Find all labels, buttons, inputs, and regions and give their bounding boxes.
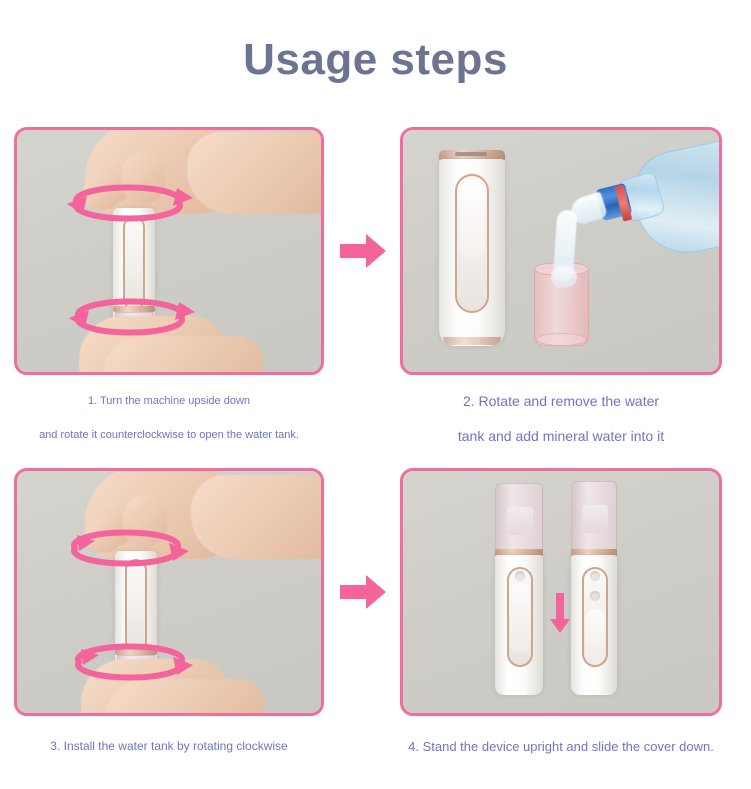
rotation-arrow-top xyxy=(55,529,195,567)
device-right-button xyxy=(590,571,600,581)
step-3-caption: 3. Install the water tank by rotating cl… xyxy=(14,737,324,755)
device-right-button-2 xyxy=(590,591,600,601)
step-3-photo xyxy=(17,471,321,713)
step-4-photo-panel xyxy=(400,468,722,716)
step-4-caption-line-1: 4. Stand the device upright and slide th… xyxy=(400,737,722,757)
step-4-caption: 4. Stand the device upright and slide th… xyxy=(400,737,722,757)
device-top-slot xyxy=(455,152,487,156)
step-2-photo xyxy=(403,130,719,372)
step-1-caption-line-1: 1. Turn the machine upside down xyxy=(14,393,324,410)
upper-forearm xyxy=(191,475,324,559)
step-row-2: 3. Install the water tank by rotating cl… xyxy=(0,468,751,789)
step-1-photo-panel xyxy=(14,127,324,375)
water-stream-splash xyxy=(551,266,577,288)
step-3-photo-panel xyxy=(14,468,324,716)
device-left-button xyxy=(515,571,525,581)
step-2-photo-panel xyxy=(400,127,722,375)
device-left-slider xyxy=(510,583,530,653)
device-oval-window xyxy=(123,216,145,310)
steps-grid: 1. Turn the machine upside down and rota… xyxy=(0,127,751,789)
step-2-caption: 2. Rotate and remove the water tank and … xyxy=(400,391,722,447)
device-oval-window xyxy=(125,559,147,653)
step-4-photo xyxy=(403,471,719,713)
step-1-caption-line-2: and rotate it counterclockwise to open t… xyxy=(14,427,324,444)
upper-forearm xyxy=(187,132,324,214)
step-1-caption: 1. Turn the machine upside down and rota… xyxy=(14,393,324,443)
device-left-nozzle xyxy=(507,507,533,535)
step-cell-3: 3. Install the water tank by rotating cl… xyxy=(14,468,324,755)
step-cell-2: 2. Rotate and remove the water tank and … xyxy=(400,127,722,447)
step-2-caption-line-1: 2. Rotate and remove the water xyxy=(400,391,722,412)
step-3-caption-line-1: 3. Install the water tank by rotating cl… xyxy=(14,737,324,755)
step-1-photo xyxy=(17,130,321,372)
rotation-arrow-bottom xyxy=(59,643,199,681)
step-cell-1: 1. Turn the machine upside down and rota… xyxy=(14,127,324,443)
step-row-1: 1. Turn the machine upside down and rota… xyxy=(0,127,751,467)
usage-steps-page: Usage steps xyxy=(0,0,751,789)
step-cell-4: 4. Stand the device upright and slide th… xyxy=(400,468,722,757)
arrow-right-icon-row-1 xyxy=(340,231,386,271)
page-title: Usage steps xyxy=(0,36,751,84)
step-2-caption-line-2: tank and add mineral water into it xyxy=(400,426,722,447)
device-right-slider xyxy=(585,609,605,665)
lower-forearm xyxy=(105,679,265,716)
rotation-arrow-bottom xyxy=(59,298,199,336)
rotation-arrow-top xyxy=(57,184,197,222)
slide-down-arrow xyxy=(549,593,571,633)
device-slider xyxy=(460,180,484,258)
arrow-right-icon-row-2 xyxy=(340,572,386,612)
water-tank-cup-base xyxy=(536,333,587,346)
lower-forearm xyxy=(103,336,263,375)
device-right-nozzle xyxy=(582,505,608,533)
device-bottom-trim xyxy=(443,337,501,345)
